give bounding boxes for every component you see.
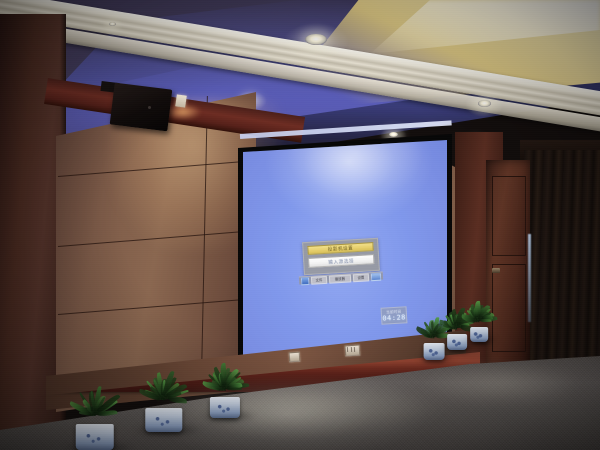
outlet-2-slot-1	[347, 347, 349, 352]
speaker-led-icon	[148, 106, 151, 109]
taskbar-item-3[interactable]: 设置	[353, 273, 369, 282]
system-tray-icon[interactable]	[371, 272, 382, 281]
dialog-field-value: 输入源选择	[328, 258, 354, 265]
clock-time: 04:28	[382, 313, 406, 322]
start-button-icon[interactable]	[301, 276, 309, 284]
outlet-1[interactable]	[289, 352, 301, 363]
plant-left-2-foliage	[128, 362, 200, 399]
projected-dialog[interactable]: 投影机设置 输入源选择	[302, 238, 380, 275]
window-curtain	[524, 150, 600, 380]
door-lower-panel	[492, 264, 526, 352]
dialog-title-label: 投影机设置	[328, 245, 354, 252]
outlet-2-slot-2	[350, 347, 352, 352]
plant-right-3-leaf-22	[479, 319, 491, 323]
taskbar-item-2[interactable]: 播放器	[329, 274, 351, 283]
downlight-1	[305, 34, 327, 45]
plant-left-2-planter	[145, 408, 182, 432]
plant-left-1	[58, 386, 132, 450]
plant-left-1-planter	[76, 424, 114, 450]
wall-mounted-speaker	[110, 83, 173, 132]
floor-light-pool-2	[420, 362, 580, 406]
plant-right-3	[462, 304, 496, 342]
clock-widget: 当前时间 04:28	[381, 306, 408, 325]
plant-left-1-foliage	[58, 375, 132, 415]
plant-right-3-planter	[470, 327, 488, 342]
downlight-3	[389, 132, 398, 137]
dialog-title-bar: 投影机设置	[307, 242, 373, 255]
plant-left-3-planter	[210, 397, 240, 418]
plant-left-2-leaf-18	[168, 396, 187, 404]
plant-left-3-foliage	[196, 357, 254, 389]
conference-room-photo: 投影机设置 输入源选择 文件播放器设置 当前时间 04:28	[0, 0, 600, 450]
taskbar-item-1[interactable]: 文件	[311, 275, 327, 284]
wall-plate	[175, 94, 187, 107]
door-light-gap	[528, 234, 531, 322]
door-handle[interactable]	[492, 268, 500, 273]
plant-right-3-foliage	[462, 298, 496, 322]
plant-left-2	[128, 372, 200, 432]
downlight-7	[109, 22, 116, 26]
downlight-5	[478, 100, 491, 107]
plant-left-3	[196, 366, 254, 418]
door-upper-panel	[492, 176, 526, 256]
outlet-2-slot-3	[354, 347, 356, 352]
dialog-input-field[interactable]: 输入源选择	[308, 254, 374, 268]
plant-left-3-leaf-22	[225, 387, 242, 391]
